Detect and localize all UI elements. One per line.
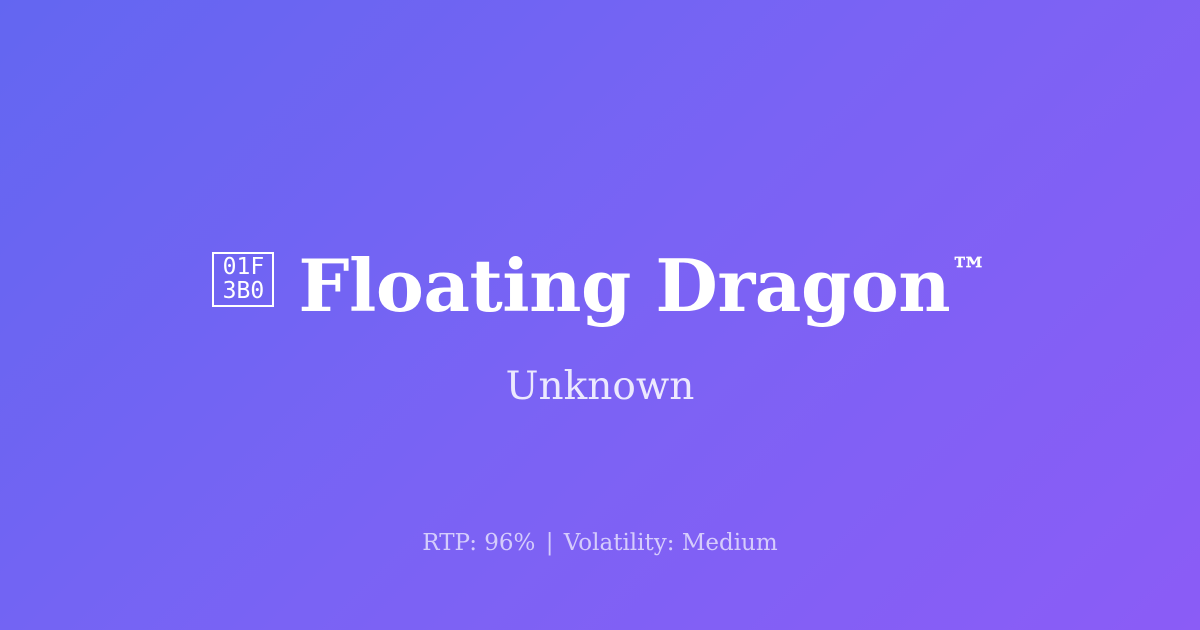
game-title-row: 01F 3B0 Floating Dragon™ — [0, 232, 1200, 324]
volatility-value: Medium — [682, 530, 778, 556]
og-preview-card: 01F 3B0 Floating Dragon™ Unknown RTP: 96… — [0, 0, 1200, 630]
volatility-label: Volatility: — [564, 530, 675, 556]
page-title: Floating Dragon™ — [298, 229, 987, 328]
tofu-codepoint-bottom: 3B0 — [223, 279, 265, 303]
stats-separator: | — [543, 530, 557, 556]
provider-subtitle: Unknown — [0, 363, 1200, 411]
rtp-value: 96% — [484, 530, 535, 556]
rtp-label: RTP: — [422, 530, 477, 556]
slot-machine-emoji-missing-glyph-icon: 01F 3B0 — [212, 252, 274, 307]
game-name: Floating Dragon — [298, 242, 950, 327]
trademark-symbol: ™ — [950, 249, 987, 293]
game-stats-line: RTP: 96% | Volatility: Medium — [0, 528, 1200, 558]
tofu-codepoint-top: 01F — [223, 255, 265, 279]
